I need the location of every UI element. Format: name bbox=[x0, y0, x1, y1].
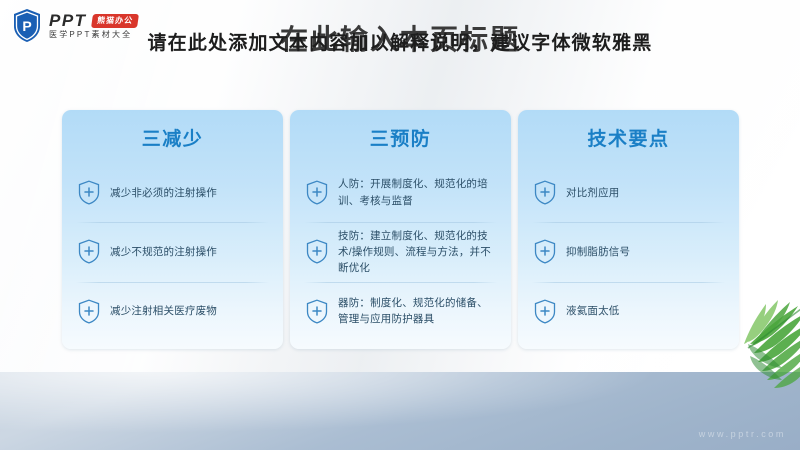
slide: P PPT 熊猫办公 医学PPT素材大全 在此输入本页标题 三减少 bbox=[0, 0, 800, 450]
site-watermark: www.pptr.com bbox=[699, 429, 786, 439]
list-item[interactable]: 人防：开展制度化、规范化的培训、考核与监督 bbox=[302, 163, 499, 222]
list-item-label: 减少非必须的注射操作 bbox=[110, 185, 217, 201]
list-item-label: 人防：开展制度化、规范化的培训、考核与监督 bbox=[338, 176, 495, 209]
card-san-jian-shao[interactable]: 三减少 减少非必须的注射操作 bbox=[62, 110, 283, 349]
card-title: 三减少 bbox=[74, 130, 271, 149]
list-item[interactable]: 抑制脂肪信号 bbox=[530, 222, 727, 281]
shield-plus-icon bbox=[78, 239, 100, 264]
shield-plus-icon bbox=[306, 239, 328, 264]
list-item-label: 器防：制度化、规范化的储备、管理与应用防护器具 bbox=[338, 295, 495, 328]
shield-plus-icon bbox=[306, 299, 328, 324]
card-title: 三预防 bbox=[302, 130, 499, 149]
list-item-label: 抑制脂肪信号 bbox=[566, 244, 630, 260]
list-item[interactable]: 对比剂应用 bbox=[530, 163, 727, 222]
list-item[interactable]: 减少注射相关医疗废物 bbox=[74, 282, 271, 341]
card-san-yu-fang[interactable]: 三预防 人防：开展制度化、规范化的培训、考核与监督 bbox=[290, 110, 511, 349]
shield-plus-icon bbox=[306, 180, 328, 205]
list-item[interactable]: 技防：建立制度化、规范化的技术/操作规则、流程与方法，并不断优化 bbox=[302, 222, 499, 281]
list-item[interactable]: 器防：制度化、规范化的储备、管理与应用防护器具 bbox=[302, 282, 499, 341]
card-title: 技术要点 bbox=[530, 130, 727, 149]
list-item[interactable]: 减少不规范的注射操作 bbox=[74, 222, 271, 281]
footer-description: 请在此处添加文本内容加以解释说明，建议字体微软雅黑 bbox=[0, 28, 800, 55]
list-item-label: 液氦面太低 bbox=[566, 303, 620, 319]
shield-plus-icon bbox=[78, 299, 100, 324]
footer-band bbox=[0, 372, 800, 450]
shield-plus-icon bbox=[534, 299, 556, 324]
list-item-label: 减少不规范的注射操作 bbox=[110, 244, 217, 260]
list-item-label: 技防：建立制度化、规范化的技术/操作规则、流程与方法，并不断优化 bbox=[338, 228, 495, 277]
shield-plus-icon bbox=[534, 239, 556, 264]
list-item[interactable]: 减少非必须的注射操作 bbox=[74, 163, 271, 222]
card-item-list: 对比剂应用 抑制脂肪信号 bbox=[530, 163, 727, 341]
list-item-label: 对比剂应用 bbox=[566, 185, 620, 201]
card-item-list: 人防：开展制度化、规范化的培训、考核与监督 技防：建立制度化、规范化的技术/操作… bbox=[302, 163, 499, 341]
card-item-list: 减少非必须的注射操作 减少不规范的注射操作 bbox=[74, 163, 271, 341]
logo-brand-text: PPT bbox=[49, 12, 87, 29]
logo-badge: 熊猫办公 bbox=[91, 14, 139, 28]
logo-primary-row: PPT 熊猫办公 bbox=[49, 12, 138, 29]
card-row: 三减少 减少非必须的注射操作 bbox=[62, 110, 739, 349]
shield-plus-icon bbox=[78, 180, 100, 205]
list-item[interactable]: 液氦面太低 bbox=[530, 282, 727, 341]
list-item-label: 减少注射相关医疗废物 bbox=[110, 303, 217, 319]
shield-plus-icon bbox=[534, 180, 556, 205]
card-ji-shu-yao-dian[interactable]: 技术要点 对比剂应用 bbox=[518, 110, 739, 349]
